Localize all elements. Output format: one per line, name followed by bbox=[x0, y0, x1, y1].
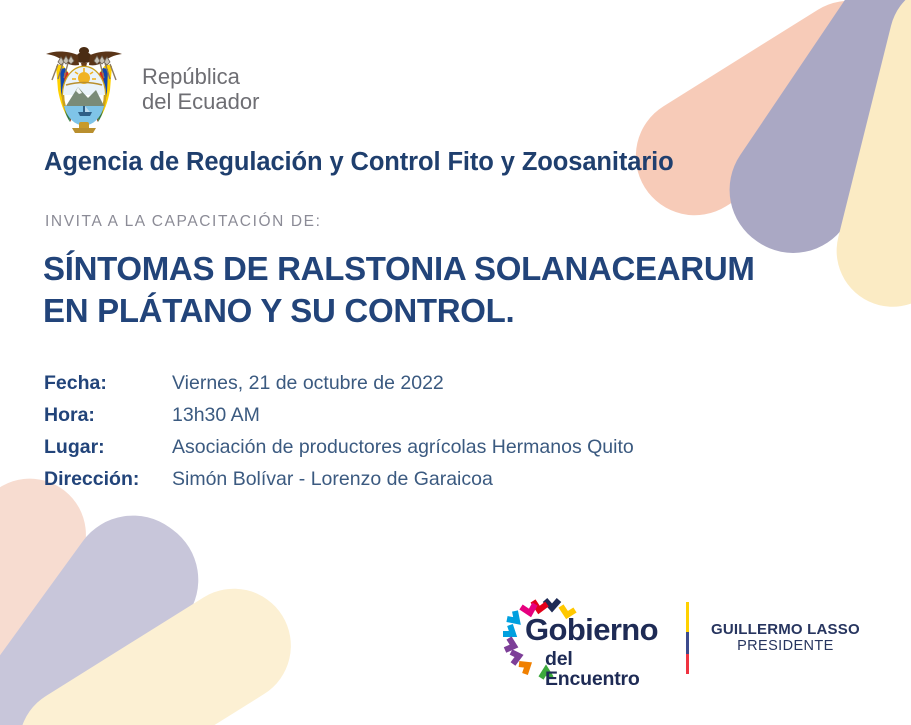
footer-logos: Gobierno del Encuentro GUILLERMO LASSO P… bbox=[497, 596, 860, 680]
detail-value: 13h30 AM bbox=[172, 404, 260, 427]
detail-label: Hora: bbox=[44, 404, 172, 427]
ribbon-yellow-icon bbox=[825, 0, 911, 319]
gobierno-del-encuentro-logo: Gobierno del Encuentro bbox=[497, 596, 672, 680]
decoration-top-right bbox=[651, 0, 911, 270]
gobierno-wordmark: Gobierno del Encuentro bbox=[525, 614, 672, 689]
detail-label: Dirección: bbox=[44, 468, 172, 491]
decoration-bottom-left bbox=[0, 465, 260, 725]
ribbon-yellow-icon bbox=[0, 567, 312, 725]
event-details: Fecha: Viernes, 21 de octubre de 2022 Ho… bbox=[44, 372, 634, 500]
president-block: GUILLERMO LASSO PRESIDENTE bbox=[711, 621, 860, 656]
president-role: PRESIDENTE bbox=[711, 638, 860, 655]
ribbon-peach-icon bbox=[614, 0, 911, 238]
gobierno-word: Gobierno bbox=[525, 614, 672, 645]
ecuador-flag-stripe-divider-icon bbox=[686, 602, 689, 674]
detail-value: Simón Bolívar - Lorenzo de Garaicoa bbox=[172, 468, 493, 491]
detail-row-lugar: Lugar: Asociación de productores agrícol… bbox=[44, 436, 634, 459]
republic-label: República del Ecuador bbox=[142, 65, 259, 114]
del-encuentro-word: del Encuentro bbox=[545, 650, 672, 689]
detail-label: Lugar: bbox=[44, 436, 172, 459]
detail-value: Viernes, 21 de octubre de 2022 bbox=[172, 372, 444, 395]
ecuador-coat-of-arms-icon bbox=[38, 42, 130, 138]
detail-label: Fecha: bbox=[44, 372, 172, 395]
ribbon-purple-icon bbox=[706, 0, 911, 277]
detail-value: Asociación de productores agrícolas Herm… bbox=[172, 436, 634, 459]
agency-name: Agencia de Regulación y Control Fito y Z… bbox=[44, 148, 674, 177]
republic-brand: República del Ecuador bbox=[38, 42, 259, 138]
ribbon-peach-icon bbox=[0, 465, 99, 725]
detail-row-direccion: Dirección: Simón Bolívar - Lorenzo de Ga… bbox=[44, 468, 634, 491]
event-title: SÍNTOMAS DE RALSTONIA SOLANACEARUM EN PL… bbox=[43, 248, 755, 332]
president-name: GUILLERMO LASSO bbox=[711, 621, 860, 639]
detail-row-fecha: Fecha: Viernes, 21 de octubre de 2022 bbox=[44, 372, 634, 395]
invitation-poster: República del Ecuador Agencia de Regulac… bbox=[0, 0, 911, 725]
detail-row-hora: Hora: 13h30 AM bbox=[44, 404, 634, 427]
ribbon-purple-icon bbox=[0, 491, 223, 725]
invitation-kicker: INVITA A LA CAPACITACIÓN DE: bbox=[45, 213, 322, 231]
